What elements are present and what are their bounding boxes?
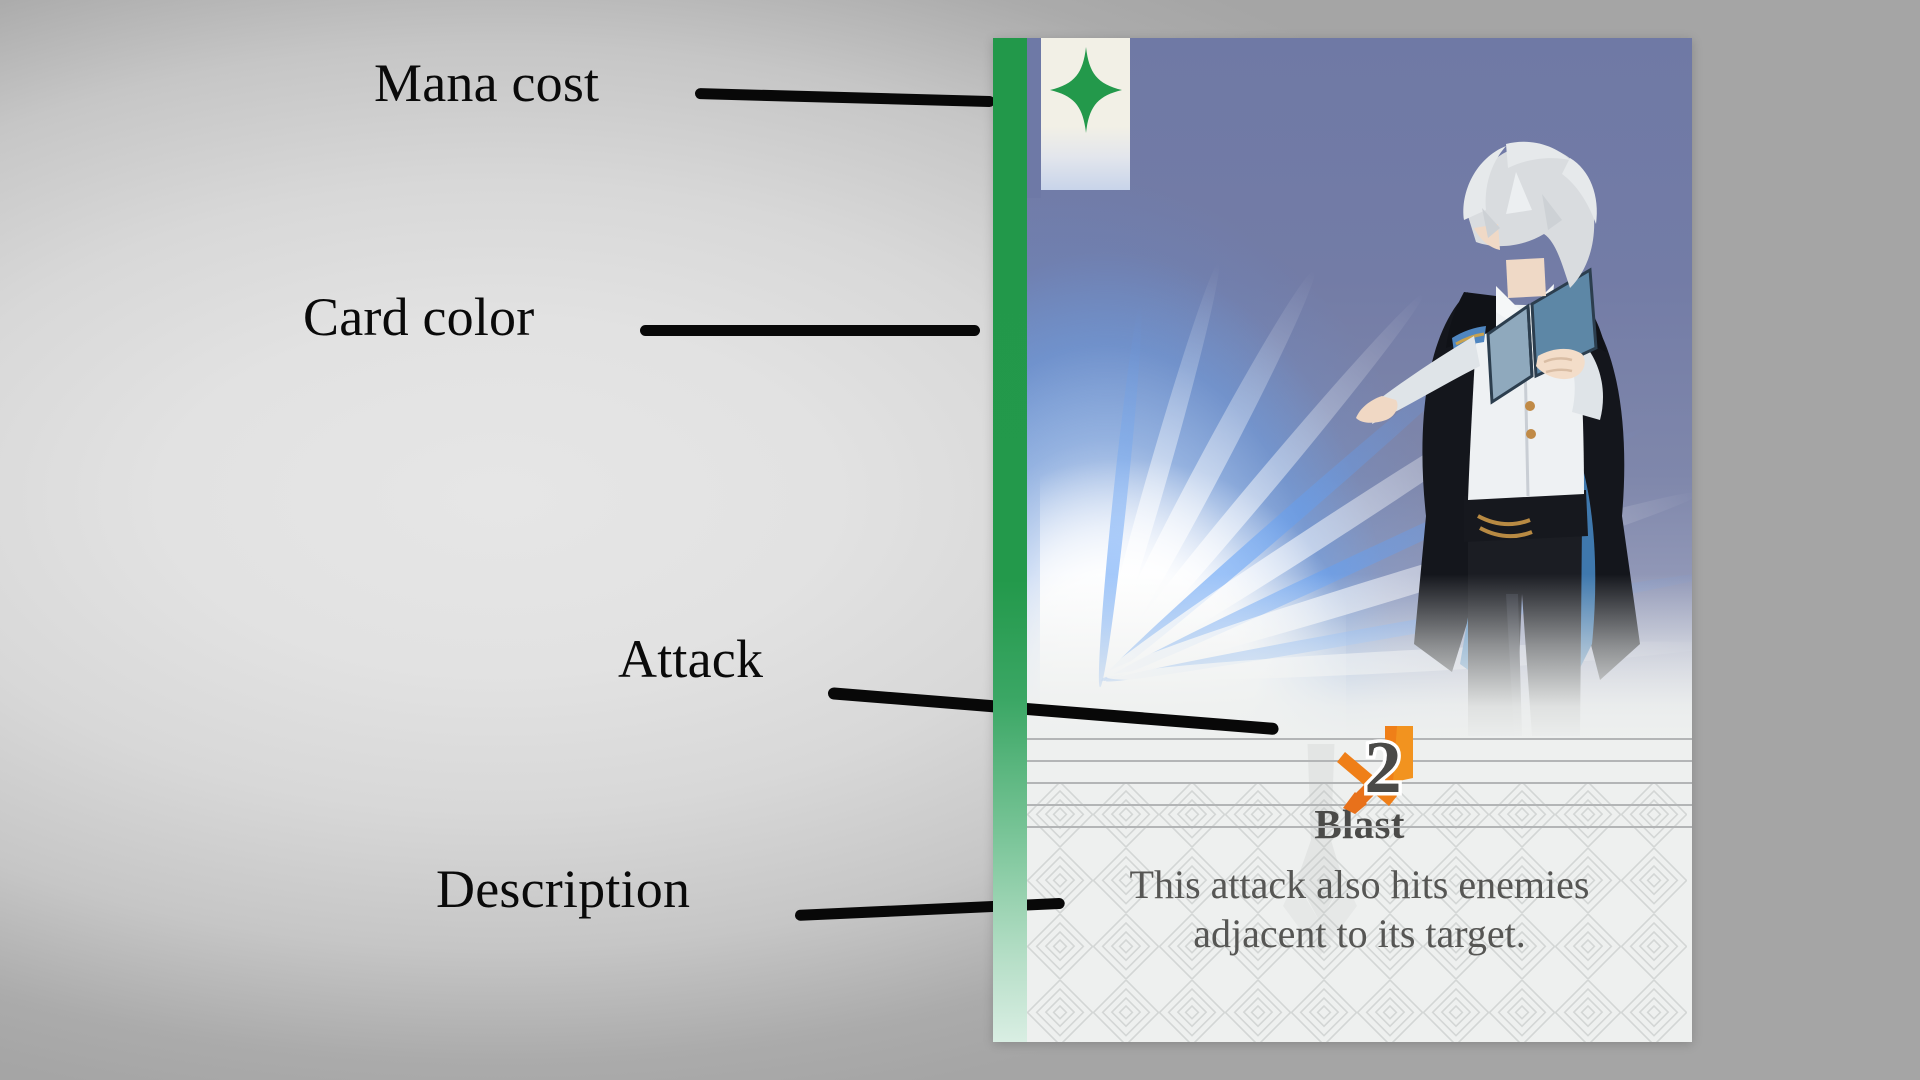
mana-cost-panel[interactable] — [1041, 38, 1130, 190]
attack-value[interactable]: 2 2 — [1323, 722, 1443, 814]
attack-number: 2 — [1323, 722, 1443, 814]
card-color-stripe[interactable] — [993, 38, 1027, 1042]
annotation-label-attack: Attack — [618, 632, 763, 686]
card-description: This attack also hits enemies adjacent t… — [1067, 860, 1652, 958]
annotation-label-description: Description — [436, 862, 690, 916]
game-card[interactable]: 2 2 Blast This attack also h — [993, 38, 1692, 1042]
annotation-label-mana-cost: Mana cost — [374, 56, 599, 110]
annotation-leader-card-color — [640, 325, 980, 336]
annotation-label-card-color: Card color — [303, 290, 534, 344]
card-frame-edge — [1027, 38, 1041, 198]
divider-line — [1027, 826, 1692, 828]
mana-cost-star-icon[interactable] — [1050, 47, 1122, 133]
